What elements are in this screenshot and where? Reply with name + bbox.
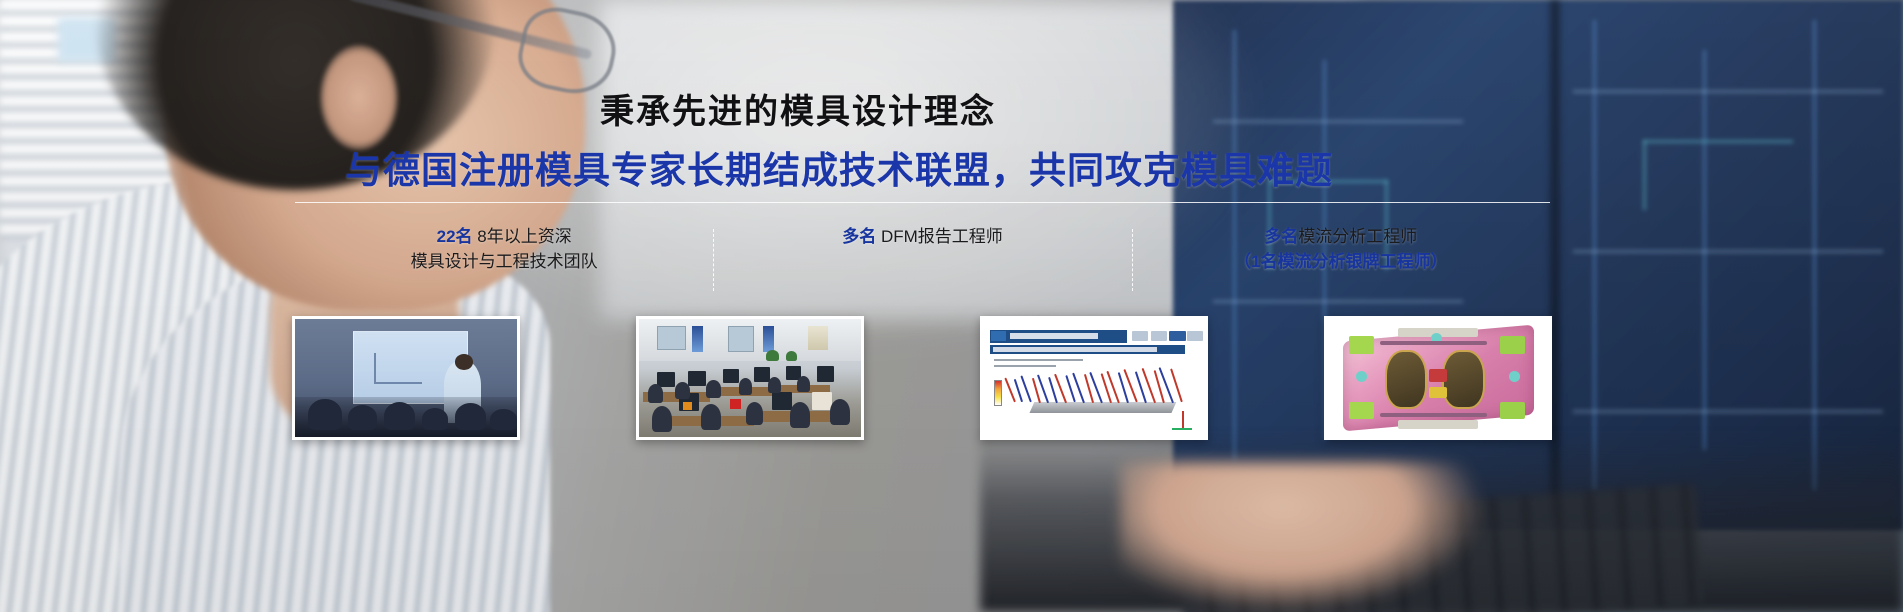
stat-line-1: 多名模流分析工程师 (1132, 225, 1550, 250)
desk-folder (683, 402, 692, 410)
report-tab (1151, 331, 1168, 342)
slide-title-text (1010, 333, 1099, 339)
part-geometry-plate (1029, 402, 1176, 413)
thumbnail-moldflow-report[interactable] (980, 316, 1208, 440)
mold-cavity (1442, 350, 1484, 409)
report-tab (1187, 331, 1203, 342)
mold-cavity (1385, 350, 1427, 409)
colour-scale-legend (994, 380, 1002, 406)
thumbnail-design-office[interactable] (636, 316, 864, 440)
office-door (728, 326, 755, 352)
stat-item-senior-design-team: 22名 8年以上资深 模具设计与工程技术团队 (295, 225, 713, 274)
thumbnail-image-mold-cad (1327, 319, 1549, 437)
stat-line-1-rest: 8年以上资深 (473, 227, 572, 246)
hero-headline: 秉承先进的模具设计理念 (600, 84, 996, 133)
thumbnail-image-training (295, 319, 517, 437)
stat-highlight: 22名 (437, 227, 473, 246)
whiteboard-diagram (374, 353, 422, 384)
hero-thumbnail-gallery (292, 316, 1552, 441)
office-window (657, 326, 686, 350)
stat-highlight: 多名 (1264, 227, 1298, 246)
report-tab-active (1169, 331, 1186, 342)
office-poster (763, 326, 774, 352)
slide-number-badge (991, 331, 1007, 342)
thumbnail-training-presentation[interactable] (292, 316, 520, 440)
stat-line-2: 模具设计与工程技术团队 (295, 250, 713, 275)
stat-line-1: 多名 DFM报告工程师 (713, 225, 1131, 250)
office-plant (786, 351, 797, 362)
stat-line-1-rest: 模流分析工程师 (1298, 227, 1417, 246)
office-noticeboard (808, 326, 828, 350)
stat-line-1: 22名 8年以上资深 (295, 225, 713, 250)
hero-content: 秉承先进的模具设计理念 与德国注册模具专家长期结成技术联盟，共同攻克模具难题 2… (0, 0, 1903, 612)
stat-highlight: 多名 (842, 227, 876, 246)
hero-divider-line (295, 202, 1550, 203)
slide-subtitle-text (993, 347, 1157, 352)
office-poster (692, 326, 703, 352)
stat-item-moldflow-engineers: 多名模流分析工程师 （1名模流分析银牌工程师） (1132, 225, 1550, 274)
office-plant (766, 350, 779, 362)
presenter-head (455, 354, 473, 369)
stat-item-dfm-engineers: 多名 DFM报告工程师 (713, 225, 1131, 250)
stat-line-1-rest: DFM报告工程师 (876, 227, 1003, 246)
hero-subheadline: 与德国注册模具专家长期结成技术联盟，共同攻克模具难题 (345, 140, 1333, 194)
report-tab (1132, 331, 1149, 342)
hero-stats-row: 22名 8年以上资深 模具设计与工程技术团队 多名 DFM报告工程师 多名模流分… (295, 225, 1550, 295)
coordinate-axis-indicator (1172, 411, 1192, 430)
thumbnail-mold-cad-model[interactable] (1324, 316, 1552, 440)
thumbnail-image-moldflow (983, 319, 1205, 437)
desk-flag (730, 399, 741, 408)
thumbnail-image-office (639, 319, 861, 437)
stat-line-2: （1名模流分析银牌工程师） (1132, 250, 1550, 275)
